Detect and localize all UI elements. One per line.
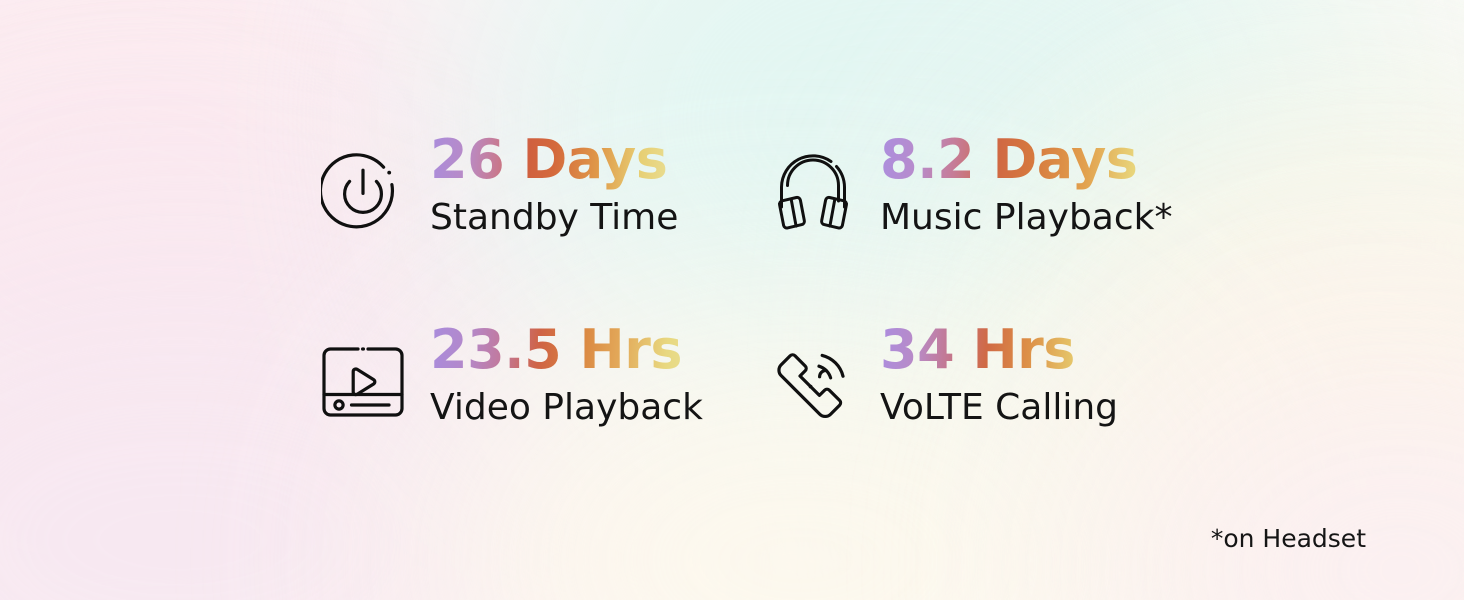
stat-item-volte-calling: 34 Hrs VoLTE Calling bbox=[768, 318, 1218, 508]
footnote-text: *on Headset bbox=[1211, 524, 1366, 554]
stat-text-video-playback: 23.5 Hrs Video Playback bbox=[430, 318, 703, 432]
stat-value: 34 Hrs bbox=[880, 320, 1118, 380]
stat-item-music-playback: 8.2 Days Music Playback* bbox=[768, 128, 1218, 318]
stat-text-volte-calling: 34 Hrs VoLTE Calling bbox=[880, 318, 1118, 432]
stat-label: Music Playback* bbox=[880, 194, 1173, 242]
stat-label: VoLTE Calling bbox=[880, 384, 1118, 432]
stat-text-music-playback: 8.2 Days Music Playback* bbox=[880, 128, 1173, 242]
phone-call-icon bbox=[768, 334, 858, 430]
battery-specs-banner: 26 Days Standby Time 8.2 Days Music P bbox=[0, 0, 1464, 600]
video-player-icon bbox=[318, 334, 408, 430]
stat-value: 8.2 Days bbox=[880, 130, 1173, 190]
headphones-icon bbox=[768, 144, 858, 240]
stat-item-standby-time: 26 Days Standby Time bbox=[318, 128, 768, 318]
stat-item-video-playback: 23.5 Hrs Video Playback bbox=[318, 318, 768, 508]
stats-grid: 26 Days Standby Time 8.2 Days Music P bbox=[318, 128, 1218, 508]
stat-label: Video Playback bbox=[430, 384, 703, 432]
stat-value: 23.5 Hrs bbox=[430, 320, 703, 380]
stat-value: 26 Days bbox=[430, 130, 678, 190]
power-icon bbox=[318, 144, 408, 240]
stat-label: Standby Time bbox=[430, 194, 678, 242]
stat-text-standby-time: 26 Days Standby Time bbox=[430, 128, 678, 242]
